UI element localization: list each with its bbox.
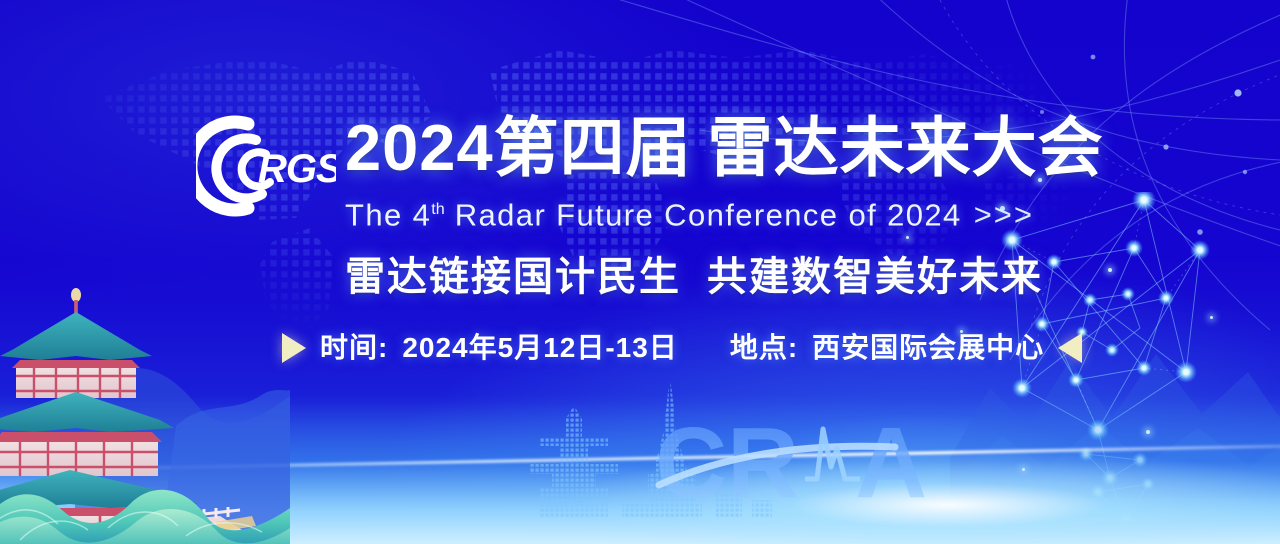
slogan-left: 雷达链接国计民生: [345, 255, 681, 299]
event-info-line: 时间: 2024年5月12日-13日 地点: 西安国际会展中心: [282, 330, 1082, 366]
conference-banner: C R A: [0, 0, 1280, 544]
venue-value: 西安国际会展中心: [812, 330, 1044, 366]
slogan-right: 共建数智美好未来: [707, 255, 1043, 299]
english-subtitle: The 4th Radar Future Conference of 2024>…: [345, 190, 1034, 234]
english-subtitle-prefix: The 4: [345, 197, 431, 232]
main-title-year: 2024第四届: [345, 111, 692, 184]
play-triangle-left-icon: [1058, 333, 1082, 363]
main-title-name: 雷达未来大会: [708, 111, 1104, 184]
main-title: 2024第四届雷达未来大会: [345, 112, 1104, 184]
banner-content: RGS 2024第四届雷达未来大会 The 4th Radar Future C…: [0, 0, 1130, 544]
play-triangle-right-icon: [282, 333, 306, 363]
english-subtitle-rest: Radar Future Conference of 2024: [445, 197, 962, 232]
rgs-logo-icon: RGS: [196, 114, 336, 218]
chevrons-icon: >>>: [974, 197, 1034, 232]
slogan: 雷达链接国计民生共建数智美好未来: [345, 252, 1043, 302]
date-value: 2024年5月12日-13日: [402, 330, 677, 366]
english-subtitle-ordinal: th: [431, 200, 444, 218]
date-label: 时间:: [320, 330, 388, 366]
rgs-logo-text: RGS: [258, 147, 336, 191]
venue-label: 地点:: [730, 330, 798, 366]
